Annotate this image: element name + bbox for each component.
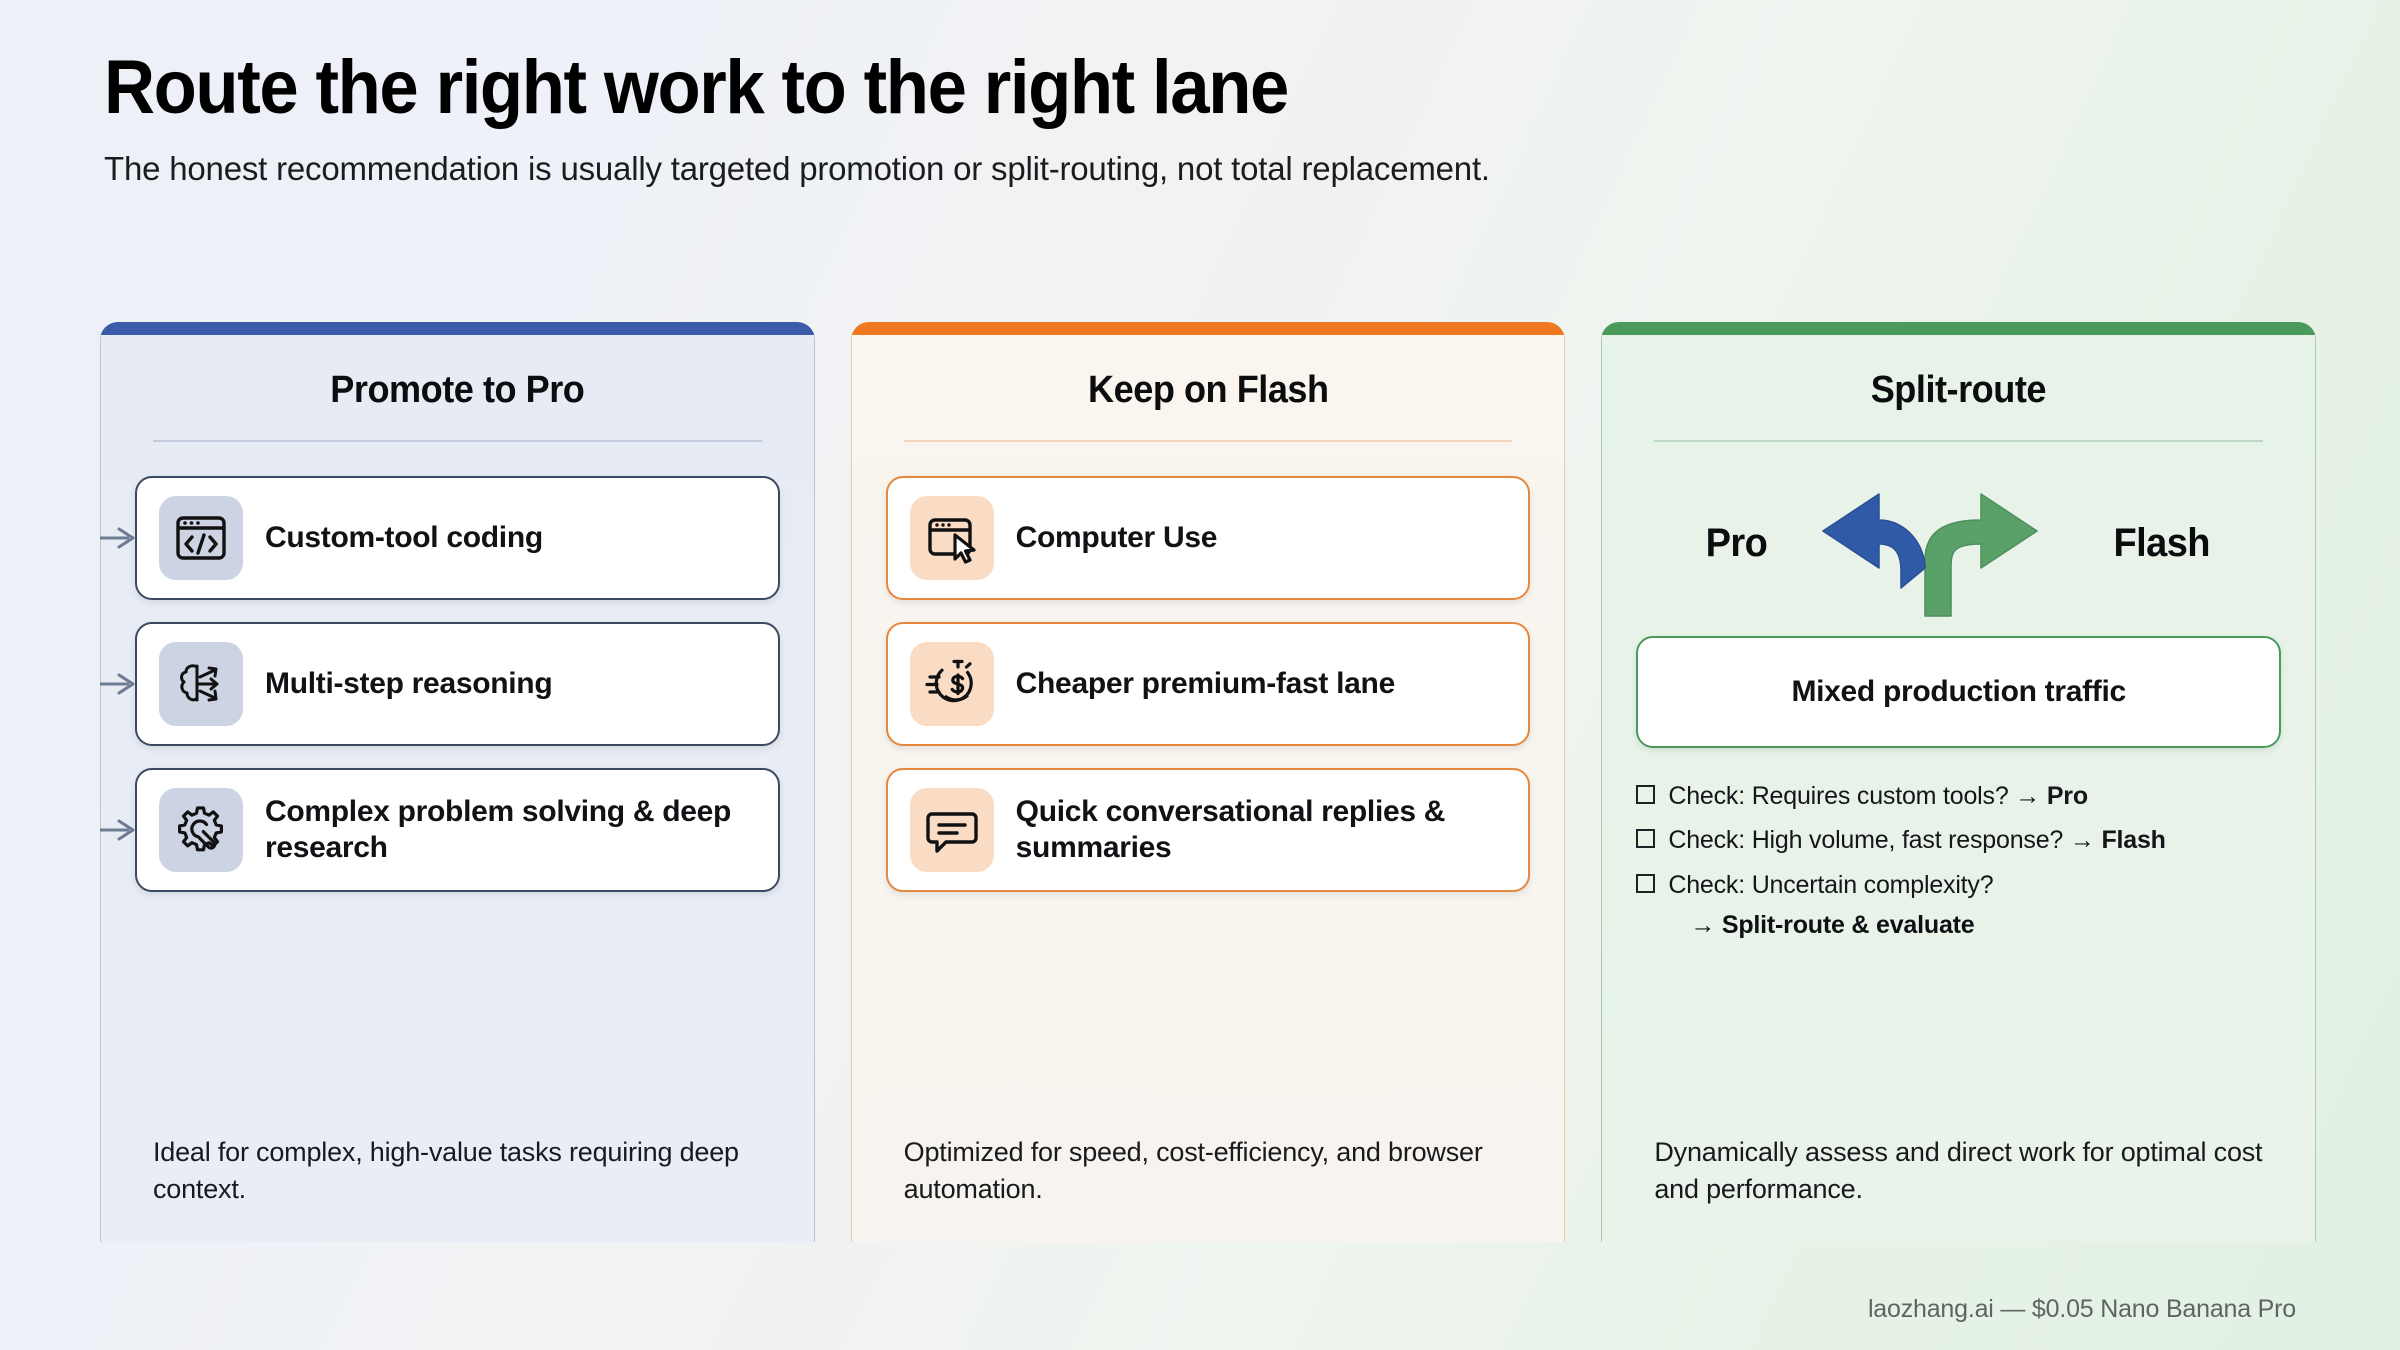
checklist-item-text: Check: High volume, fast response? → (1668, 826, 2101, 854)
card-label: Quick conversational replies & summaries (1016, 794, 1507, 866)
stopwatch-dollar-icon (910, 642, 994, 726)
card-quick-conversational-replies[interactable]: Quick conversational replies & summaries (886, 768, 1531, 892)
checklist-item-target: Pro (2047, 782, 2088, 810)
card-custom-tool-coding[interactable]: Custom-tool coding (135, 476, 780, 600)
column-divider-flash (904, 440, 1513, 442)
watermark: laozhang.ai — $0.05 Nano Banana Pro (1868, 1295, 2296, 1324)
page-subtitle: The honest recommendation is usually tar… (104, 150, 2400, 188)
fork-label-pro: Pro (1706, 521, 1768, 566)
checklist-item-target: Flash (2101, 826, 2165, 854)
gear-wrench-icon (159, 788, 243, 872)
inbound-arrow-icon (100, 671, 143, 697)
column-keep-on-flash: Keep on Flash Computer Use (851, 322, 1566, 1242)
checkbox-icon[interactable] (1636, 829, 1655, 848)
column-footnote-split: Dynamically assess and direct work for o… (1636, 1134, 2281, 1243)
page-header: Route the right work to the right lane T… (0, 0, 2400, 188)
chat-bubble-icon (910, 788, 994, 872)
column-divider-split (1654, 440, 2263, 442)
card-multi-step-reasoning[interactable]: Multi-step reasoning (135, 622, 780, 746)
checklist-subitem-split-route: → Split-route & evaluate (1690, 911, 2281, 940)
card-computer-use[interactable]: Computer Use (886, 476, 1531, 600)
column-accent-bar-split (1601, 322, 2316, 335)
code-window-icon (159, 496, 243, 580)
column-title-pro: Promote to Pro (151, 369, 763, 412)
checkbox-icon[interactable] (1636, 785, 1655, 804)
brain-branching-arrows-icon (159, 642, 243, 726)
split-fork-arrow-icon (1775, 468, 2105, 618)
column-promote-to-pro: Promote to Pro (100, 322, 815, 1242)
browser-cursor-icon (910, 496, 994, 580)
column-title-split: Split-route (1652, 369, 2264, 412)
column-divider-pro (153, 440, 762, 442)
columns-container: Promote to Pro (100, 322, 2316, 1242)
column-footnote-flash: Optimized for speed, cost-efficiency, an… (886, 1134, 1531, 1243)
fork-diagram: Pro Flash (1636, 468, 2281, 618)
card-label: Complex problem solving & deep research (265, 794, 756, 866)
column-split-route: Split-route Pro Flash Mixed production t… (1601, 322, 2316, 1242)
card-list-pro: Custom-tool coding (135, 476, 780, 892)
page-title: Route the right work to the right lane (104, 48, 2239, 128)
checklist-item-text: Check: Requires custom tools? → (1668, 782, 2046, 810)
column-footnote-pro: Ideal for complex, high-value tasks requ… (135, 1134, 780, 1243)
mixed-production-traffic-label: Mixed production traffic (1791, 675, 2125, 709)
card-label: Custom-tool coding (265, 520, 543, 556)
checklist-item-text: Check: Uncertain complexity? (1668, 871, 1993, 899)
column-accent-bar-pro (100, 322, 815, 335)
checkbox-icon[interactable] (1636, 874, 1655, 893)
card-list-flash: Computer Use (886, 476, 1531, 892)
inbound-arrow-icon (100, 817, 143, 843)
column-title-flash: Keep on Flash (902, 369, 1514, 412)
card-complex-problem-solving[interactable]: Complex problem solving & deep research (135, 768, 780, 892)
checklist-item-uncertain-complexity[interactable]: Check: Uncertain complexity? (1636, 867, 2281, 903)
card-label: Multi-step reasoning (265, 666, 552, 702)
column-accent-bar-flash (851, 322, 1566, 335)
card-label: Computer Use (1016, 520, 1217, 556)
card-label: Cheaper premium-fast lane (1016, 666, 1395, 702)
checklist: Check: Requires custom tools? → Pro Chec… (1636, 778, 2281, 940)
card-cheaper-premium-fast-lane[interactable]: Cheaper premium-fast lane (886, 622, 1531, 746)
inbound-arrow-icon (100, 525, 143, 551)
fork-label-flash: Flash (2114, 521, 2210, 566)
checklist-item-high-volume[interactable]: Check: High volume, fast response? → Fla… (1636, 822, 2281, 858)
mixed-production-traffic-box[interactable]: Mixed production traffic (1636, 636, 2281, 748)
checklist-item-custom-tools[interactable]: Check: Requires custom tools? → Pro (1636, 778, 2281, 814)
